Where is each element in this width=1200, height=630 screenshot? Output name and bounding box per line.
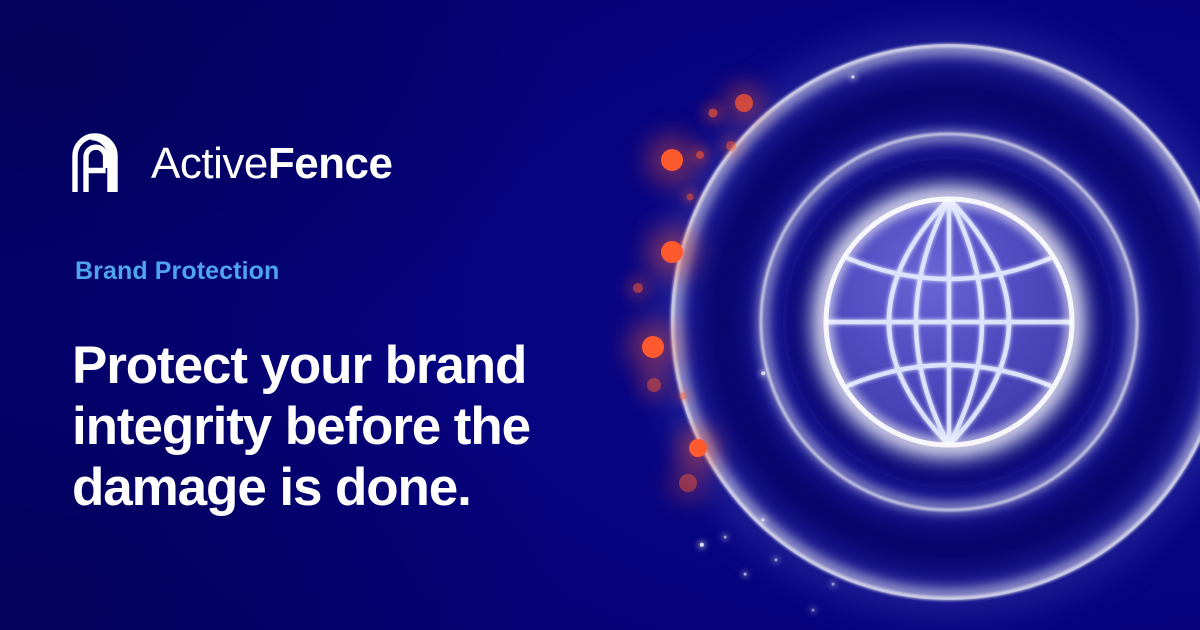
accent-spark [724, 536, 727, 539]
brand-protection-banner: ActiveFence Brand Protection Protect you… [0, 0, 1200, 630]
accent-spark [744, 573, 747, 576]
accent-dot [679, 474, 697, 492]
accent-dot [661, 149, 683, 171]
accent-dot [687, 194, 694, 201]
accent-dot [696, 151, 704, 159]
accent-spark [761, 371, 765, 375]
accent-dot [726, 141, 736, 151]
accent-spark [812, 609, 815, 612]
accent-dot [647, 378, 661, 392]
accent-dot [709, 109, 718, 118]
eyebrow-label: Brand Protection [75, 259, 279, 284]
brand-wordmark: ActiveFence [151, 136, 393, 186]
accent-spark [700, 543, 704, 547]
accent-dot [642, 336, 664, 358]
brand-logo[interactable]: ActiveFence [72, 126, 393, 196]
accent-spark [832, 583, 835, 586]
accent-spark [761, 518, 764, 521]
accent-dot [689, 439, 707, 457]
page-title: Protect your brand integrity before the … [72, 335, 612, 519]
content-column: ActiveFence Brand Protection Protect you… [72, 0, 632, 630]
wordmark-active: Active [151, 139, 268, 188]
accent-dot [680, 393, 687, 400]
activefence-arch-logo-icon [72, 126, 134, 196]
accent-spark [774, 558, 777, 561]
accent-dot [633, 283, 643, 293]
wordmark-fence: Fence [268, 139, 393, 188]
accent-spark [851, 75, 854, 78]
accent-dot [661, 241, 683, 263]
accent-dot [735, 94, 753, 112]
